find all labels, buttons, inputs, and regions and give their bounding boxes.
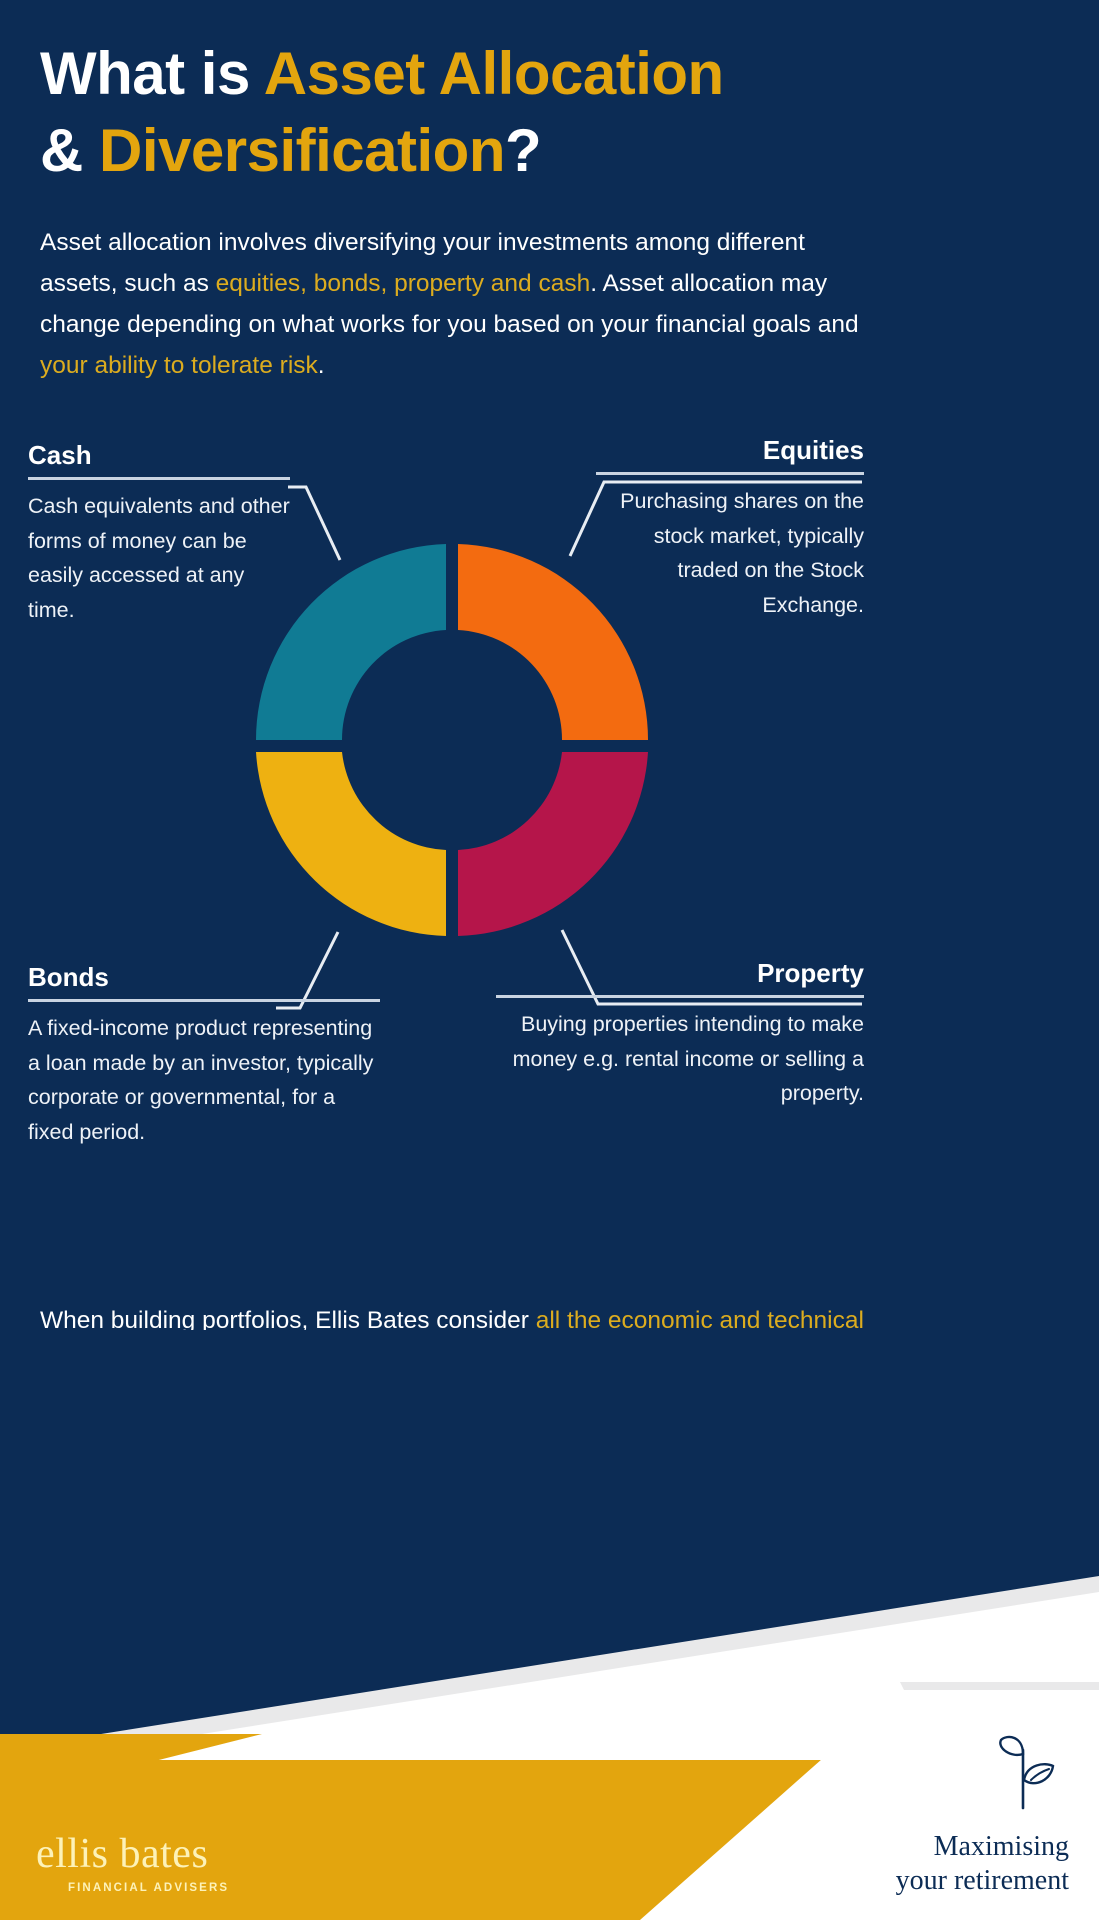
callout-cash-rule <box>28 477 290 480</box>
intro-paragraph: Asset allocation involves diversifying y… <box>40 222 870 387</box>
title-line2-question: ? <box>505 117 541 184</box>
intro-text-3: . <box>318 352 325 379</box>
callout-cash-title: Cash <box>28 440 290 477</box>
intro-highlight-risk: your ability to tolerate risk <box>40 352 318 379</box>
callout-bonds-title: Bonds <box>28 962 380 999</box>
tagline-line-1: Maximising <box>896 1830 1069 1864</box>
callout-bonds-body: A fixed-income product representing a lo… <box>28 1002 380 1150</box>
donut-slice-bonds <box>256 752 446 936</box>
title-line2-gold: Diversification <box>99 117 505 184</box>
callout-property-title: Property <box>496 958 864 995</box>
footer-tagline: Maximising your retirement <box>896 1830 1069 1898</box>
callout-property: Property Buying properties intending to … <box>496 958 864 1111</box>
page-title: What is Asset Allocation & Diversificati… <box>40 36 1060 190</box>
logo-subtitle: FINANCIAL ADVISERS <box>68 1882 229 1894</box>
donut-slice-property <box>458 752 648 936</box>
callout-bonds-rule <box>28 999 380 1002</box>
callout-property-rule <box>496 995 864 998</box>
callout-equities-body: Purchasing shares on the stock market, t… <box>596 475 864 623</box>
callout-cash: Cash Cash equivalents and other forms of… <box>28 440 290 628</box>
logo-wordmark: ellis bates <box>36 1833 229 1875</box>
tagline-line-2: your retirement <box>896 1864 1069 1898</box>
title-line1-gold: Asset Allocation <box>264 40 724 107</box>
sprout-icon <box>987 1728 1059 1812</box>
callout-bonds: Bonds A fixed-income product representin… <box>28 962 380 1150</box>
intro-highlight-assets: equities, bonds, property and cash <box>216 270 591 297</box>
title-line2-amp: & <box>40 117 99 184</box>
callout-cash-body: Cash equivalents and other forms of mone… <box>28 480 290 628</box>
callout-property-body: Buying properties intending to make mone… <box>496 998 864 1111</box>
title-line1-white: What is <box>40 40 264 107</box>
ellis-bates-logo: ellis bates FINANCIAL ADVISERS <box>36 1833 229 1894</box>
callout-equities: Equities Purchasing shares on the stock … <box>596 435 864 623</box>
callout-equities-rule <box>596 472 864 475</box>
callout-equities-title: Equities <box>596 435 864 472</box>
